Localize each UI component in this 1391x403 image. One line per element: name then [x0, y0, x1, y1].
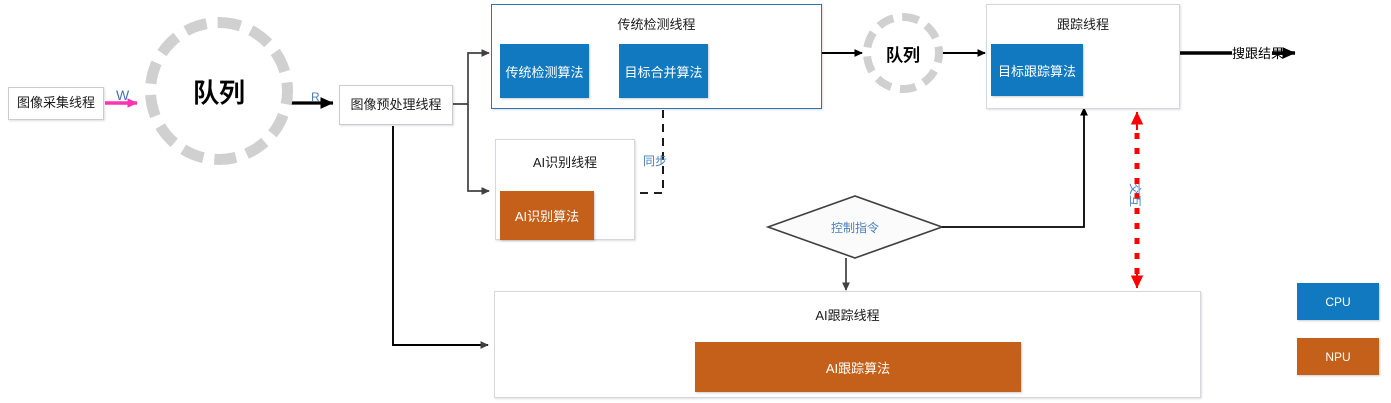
legend-cpu-chip: CPU — [1297, 283, 1379, 320]
target-merge-algo-chip[interactable]: 目标合并算法 — [619, 44, 708, 98]
traditional-detect-algo-label: 传统检测算法 — [505, 62, 583, 81]
ai-tracking-thread-title: AI跟踪线程 — [495, 305, 1200, 324]
ai-recognize-algo-label: AI识别算法 — [515, 206, 579, 225]
ai-tracking-algo-chip[interactable]: AI跟踪算法 — [695, 342, 1021, 392]
target-merge-algo-label: 目标合并算法 — [624, 62, 702, 81]
control-command-label: 控制指令 — [805, 216, 905, 238]
edge-label-sync: 同步 — [643, 152, 667, 169]
tracking-thread-panel[interactable]: 跟踪线程 目标跟踪算法 — [986, 4, 1180, 109]
edge-preprocess-fork — [453, 53, 489, 191]
edge-label-write: W — [116, 87, 129, 103]
queue-1: 队列 — [145, 17, 293, 165]
edge-label-interaction: 交互 — [1127, 183, 1144, 207]
image-capture-thread-box[interactable]: 图像采集线程 — [8, 87, 104, 120]
tracking-thread-title: 跟踪线程 — [987, 14, 1179, 33]
control-command-diamond — [768, 196, 942, 258]
image-preprocess-thread-label: 图像预处理线程 — [350, 98, 441, 113]
target-tracking-algo-label: 目标跟踪算法 — [998, 61, 1076, 80]
legend-cpu-label: CPU — [1325, 295, 1350, 309]
edge-command-to-tracking — [942, 108, 1084, 227]
ai-recognize-thread-panel[interactable]: AI识别线程 AI识别算法 — [495, 139, 635, 240]
flowchart-canvas: 图像采集线程 队列 W R 图像预处理线程 传统检测线程 传统检测算法 目标合并… — [0, 0, 1391, 403]
target-tracking-algo-chip[interactable]: 目标跟踪算法 — [991, 44, 1083, 96]
traditional-detect-thread-panel[interactable]: 传统检测线程 传统检测算法 目标合并算法 — [491, 4, 822, 109]
legend-npu-label: NPU — [1325, 350, 1350, 364]
edge-preprocess-to-ai-tracking — [393, 126, 488, 345]
traditional-detect-algo-chip[interactable]: 传统检测算法 — [500, 44, 589, 98]
image-preprocess-thread-box[interactable]: 图像预处理线程 — [339, 85, 453, 125]
edge-label-read: R — [311, 90, 320, 104]
queue-2: 队列 — [863, 13, 943, 93]
image-capture-thread-label: 图像采集线程 — [17, 96, 95, 111]
ai-recognize-thread-title: AI识别线程 — [496, 152, 634, 171]
traditional-detect-thread-title: 传统检测线程 — [492, 14, 821, 33]
queue-2-label: 队列 — [886, 41, 920, 66]
ai-tracking-algo-label: AI跟踪算法 — [826, 358, 890, 377]
queue-1-label: 队列 — [193, 73, 245, 110]
ai-tracking-thread-panel[interactable]: AI跟踪线程 AI跟踪算法 — [494, 291, 1201, 398]
edge-label-output: 搜跟结果 — [1232, 43, 1284, 62]
ai-recognize-algo-chip[interactable]: AI识别算法 — [500, 191, 594, 240]
legend-npu-chip: NPU — [1297, 338, 1379, 375]
